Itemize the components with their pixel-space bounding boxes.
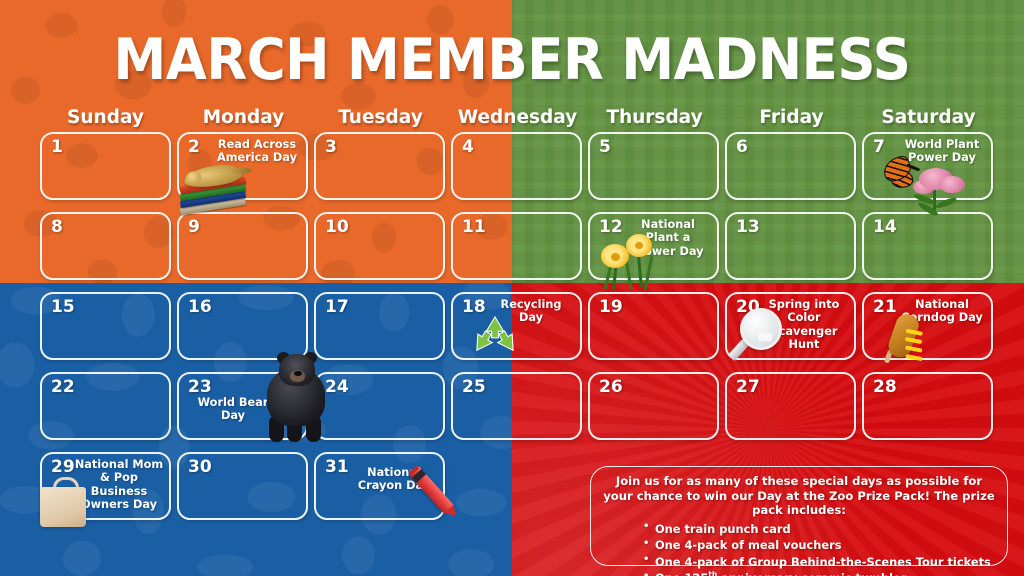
day-cell-20[interactable]: 20 Spring into Color Scavenger Hunt (725, 292, 856, 360)
day-cell-29[interactable]: 29 National Mom & Pop Business Owners Da… (40, 452, 171, 520)
day-cell-28[interactable]: 28 (862, 372, 993, 440)
day-cell-15[interactable]: 15 (40, 292, 171, 360)
day-number: 8 (51, 217, 63, 238)
day-event-label: World Plant Power Day (898, 138, 986, 165)
day-number: 4 (462, 137, 474, 158)
day-number: 18 (462, 297, 486, 318)
day-number: 28 (873, 377, 897, 398)
anniversary-superscript: th (708, 570, 717, 576)
day-number: 11 (462, 217, 486, 238)
page-title: MARCH MEMBER MADNESS (36, 27, 988, 93)
day-number: 13 (736, 217, 760, 238)
day-number: 31 (325, 457, 349, 478)
day-cell-6[interactable]: 6 (725, 132, 856, 200)
day-cell-14[interactable]: 14 (862, 212, 993, 280)
day-number: 1 (51, 137, 63, 158)
day-number: 26 (599, 377, 623, 398)
prize-pack-list: One train punch card One 4-pack of meal … (603, 521, 995, 576)
day-number: 16 (188, 297, 212, 318)
day-number: 25 (462, 377, 486, 398)
day-cell-10[interactable]: 10 (314, 212, 445, 280)
promo-lead-text: Join us for as many of these special day… (603, 474, 995, 518)
day-cell-7[interactable]: 7 World Plant Power Day (862, 132, 993, 200)
day-number: 15 (51, 297, 75, 318)
anniversary-text-after: anniversary ceramic tumbler (717, 571, 906, 576)
day-cell-1[interactable]: 1 (40, 132, 171, 200)
day-cell-30[interactable]: 30 (177, 452, 308, 520)
day-event-label: World Bear Day (185, 396, 281, 423)
day-number: 27 (736, 377, 760, 398)
day-number: 7 (873, 137, 885, 158)
anniversary-text-before: One 125 (655, 571, 708, 576)
day-event-label: Spring into Color Scavenger Hunt (756, 298, 852, 352)
day-number: 2 (188, 137, 200, 158)
day-number: 3 (325, 137, 337, 158)
day-number: 22 (51, 377, 75, 398)
day-number: 12 (599, 217, 623, 238)
day-cell-19[interactable]: 19 (588, 292, 719, 360)
day-number: 10 (325, 217, 349, 238)
day-number: 17 (325, 297, 349, 318)
day-event-label: National Plant a Flower Day (624, 218, 712, 258)
prize-list-item: One 4-pack of meal vouchers (655, 537, 995, 553)
day-cell-17[interactable]: 17 (314, 292, 445, 360)
day-header-tuesday: Tuesday (312, 107, 449, 128)
day-header-saturday: Saturday (860, 107, 997, 128)
day-number: 14 (873, 217, 897, 238)
day-event-label: National Crayon Day (350, 466, 438, 493)
day-number: 5 (599, 137, 611, 158)
day-header-thursday: Thursday (586, 107, 723, 128)
day-cell-5[interactable]: 5 (588, 132, 719, 200)
day-cell-3[interactable]: 3 (314, 132, 445, 200)
day-number: 6 (736, 137, 748, 158)
day-cell-31[interactable]: 31 National Crayon Day (314, 452, 445, 520)
day-header-sunday: Sunday (37, 107, 174, 128)
day-cell-8[interactable]: 8 (40, 212, 171, 280)
day-cell-13[interactable]: 13 (725, 212, 856, 280)
day-header-monday: Monday (175, 107, 312, 128)
day-header-wednesday: Wednesday (449, 107, 586, 128)
day-cell-24[interactable]: 24 (314, 372, 445, 440)
day-header-friday: Friday (723, 107, 860, 128)
day-number: 9 (188, 217, 200, 238)
day-cell-23[interactable]: 23 World Bear Day (177, 372, 308, 440)
march-member-madness-calendar: MARCH MEMBER MADNESS Sunday Monday Tuesd… (0, 0, 1024, 576)
day-event-label: Recycling Day (487, 298, 575, 325)
day-number: 24 (325, 377, 349, 398)
prize-list-item: One train punch card (655, 521, 995, 537)
day-event-label: National Corndog Day (898, 298, 986, 325)
prize-pack-promo-box: Join us for as many of these special day… (590, 466, 1008, 566)
day-cell-4[interactable]: 4 (451, 132, 582, 200)
day-cell-26[interactable]: 26 (588, 372, 719, 440)
day-cell-18[interactable]: 18 Recycling Day (451, 292, 582, 360)
day-cell-16[interactable]: 16 (177, 292, 308, 360)
day-event-label: Read Across America Day (213, 138, 301, 165)
day-number: 21 (873, 297, 897, 318)
day-cell-12[interactable]: 12 National Plant a Flower Day (588, 212, 719, 280)
prize-list-item-anniversary: One 125th anniversary ceramic tumbler (655, 570, 995, 576)
day-cell-21[interactable]: 21 National Corndog Day (862, 292, 993, 360)
day-cell-25[interactable]: 25 (451, 372, 582, 440)
day-cell-9[interactable]: 9 (177, 212, 308, 280)
day-cell-27[interactable]: 27 (725, 372, 856, 440)
day-number: 19 (599, 297, 623, 318)
day-cell-2[interactable]: 2 Read Across America Day (177, 132, 308, 200)
day-cell-11[interactable]: 11 (451, 212, 582, 280)
day-cell-22[interactable]: 22 (40, 372, 171, 440)
prize-list-item: One 4-pack of Group Behind-the-Scenes To… (655, 554, 995, 570)
day-event-label: National Mom & Pop Business Owners Day (71, 458, 167, 512)
day-number: 30 (188, 457, 212, 478)
